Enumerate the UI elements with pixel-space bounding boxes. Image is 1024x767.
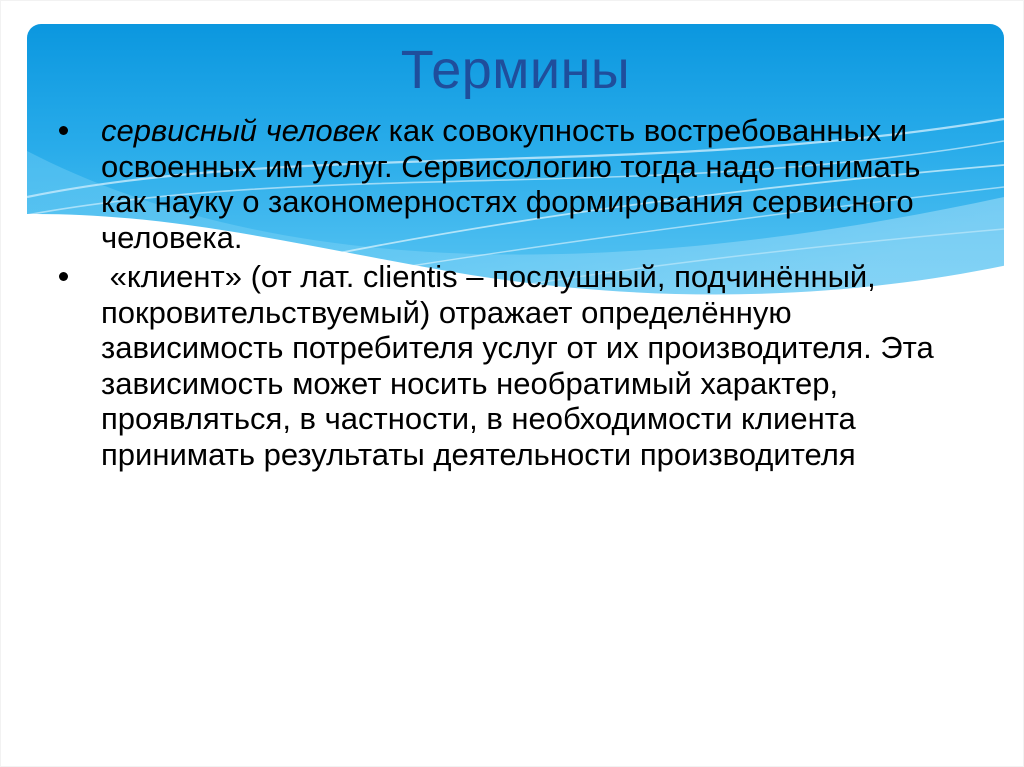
list-item: «клиент» (от лат. clientis – послушный, … xyxy=(45,259,961,472)
bullet-text: «клиент» (от лат. clientis – послушный, … xyxy=(101,259,961,472)
bullet-text: сервисный человек как совокупность востр… xyxy=(101,113,961,255)
list-item: сервисный человек как совокупность востр… xyxy=(45,113,961,255)
bullet-list: сервисный человек как совокупность востр… xyxy=(45,113,961,472)
slide-content: сервисный человек как совокупность востр… xyxy=(45,113,961,476)
emphasis-term: сервисный человек xyxy=(101,113,380,148)
slide-title-text: Термины xyxy=(401,42,630,99)
bullet-dot-icon xyxy=(59,272,68,281)
presentation-slide: Термины сервисный человек как совокупнос… xyxy=(0,0,1024,767)
page-title: Термины xyxy=(27,31,1004,109)
bullet-dot-icon xyxy=(59,126,68,135)
